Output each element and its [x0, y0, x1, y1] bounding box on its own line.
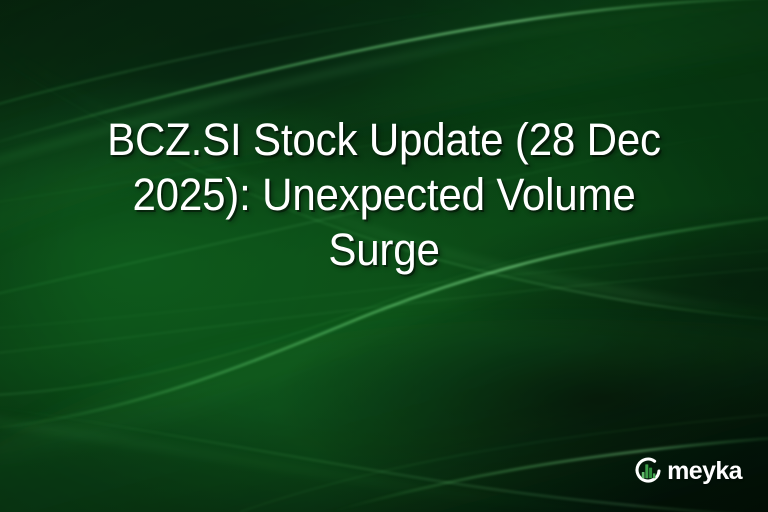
brand-name: meyka — [667, 457, 742, 485]
ring-bar-chart-icon — [634, 457, 662, 485]
brand-logo[interactable]: meyka — [634, 456, 742, 486]
title-block: BCZ.SI Stock Update (28 Dec 2025): Unexp… — [0, 112, 768, 277]
stock-update-banner: BCZ.SI Stock Update (28 Dec 2025): Unexp… — [0, 0, 768, 512]
page-title: BCZ.SI Stock Update (28 Dec 2025): Unexp… — [49, 112, 718, 277]
